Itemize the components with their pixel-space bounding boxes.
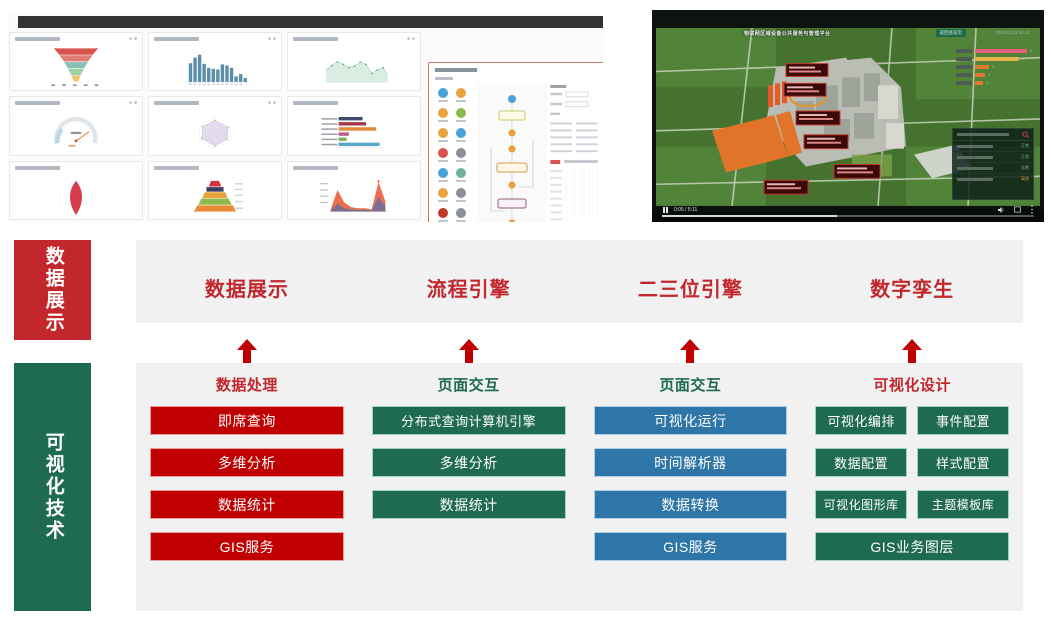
column-title: 页面交互	[594, 374, 788, 395]
flow-canvas[interactable]	[477, 83, 547, 222]
stacked-area-chart-card[interactable]	[287, 161, 421, 220]
stacked-area-chart	[288, 174, 420, 217]
twin-datetime: 2020/11/18 10:41	[995, 30, 1030, 35]
card-menu-icon[interactable]	[129, 101, 137, 104]
up-arrow-icon	[679, 339, 701, 363]
twin-search-row[interactable]	[953, 129, 1033, 141]
capability-box[interactable]: 样式配置	[917, 448, 1009, 477]
twin-overview-button[interactable]: 返回总览页	[936, 29, 967, 37]
pyramid-chart	[149, 174, 281, 217]
capability-box[interactable]: 可视化图形库	[815, 490, 907, 519]
horizontal-bar-chart	[288, 109, 420, 152]
legend-label	[956, 65, 972, 69]
search-input[interactable]	[957, 133, 1009, 136]
capability-box[interactable]: 数据转换	[594, 490, 788, 519]
card-title	[15, 166, 60, 170]
up-arrow-icon	[236, 339, 258, 363]
arrow-cell	[580, 337, 802, 363]
card-title	[15, 101, 60, 105]
card-menu-icon[interactable]	[407, 37, 415, 40]
technology-column-visual-design: 可视化设计 可视化编排 事件配置 数据配置 样式配置 可视化图形库 主题模板库	[801, 374, 1023, 611]
legend-value: 3	[1022, 56, 1024, 61]
legend-label	[956, 73, 972, 77]
funnel-chart	[10, 45, 142, 88]
device-name	[957, 167, 993, 170]
legend-row: 2	[956, 64, 1032, 69]
presentation-layer-panel: 数据展示 流程引擎 二三位引擎 数字孪生	[136, 240, 1023, 323]
technology-layer-band: 可视化技术 数据处理 即席查询 多维分析 数据统计 GIS服务 页面交互	[0, 363, 1051, 613]
polar-shape-chart	[10, 174, 142, 217]
video-progress-bar[interactable]	[662, 215, 1034, 217]
card-title	[293, 101, 338, 105]
column-items: 分布式查询计算机引擎 多维分析 数据统计	[372, 406, 566, 519]
capability-box[interactable]: GIS服务	[594, 532, 788, 561]
capability-box[interactable]: 可视化运行	[594, 406, 788, 435]
device-name	[957, 145, 993, 148]
bar-chart-card[interactable]	[148, 32, 282, 91]
twin-device-row[interactable]: 离线	[953, 174, 1033, 184]
technology-layer-side-label: 可视化技术	[14, 363, 91, 611]
device-name	[957, 178, 993, 181]
volume-icon[interactable]	[997, 206, 1005, 214]
flow-engine-designer[interactable]	[428, 62, 603, 222]
capability-box[interactable]: 分布式查询计算机引擎	[372, 406, 566, 435]
capability-box[interactable]: 多维分析	[372, 448, 566, 477]
column-items: 即席查询 多维分析 数据统计 GIS服务	[150, 406, 344, 561]
technology-column-page-interaction-1: 页面交互 分布式查询计算机引擎 多维分析 数据统计	[358, 374, 580, 611]
presentation-layer-band: 数据展示 数据展示 流程引擎 二三位引擎 数字孪生	[0, 240, 1051, 340]
dashboard-chart-grid	[9, 32, 421, 220]
video-player-controls[interactable]: 0:05 / 5:11	[652, 204, 1044, 222]
legend-row: 1	[956, 72, 1032, 77]
legend-row: 3	[956, 56, 1032, 61]
video-right-controls[interactable]	[997, 205, 1034, 214]
capability-box[interactable]: 多维分析	[150, 448, 344, 477]
capability-pair: 可视化编排 事件配置	[815, 406, 1009, 435]
pyramid-chart-card[interactable]	[148, 161, 282, 220]
capability-box[interactable]: 主题模板库	[917, 490, 1009, 519]
legend-bar	[975, 81, 983, 85]
column-items: 可视化编排 事件配置 数据配置 样式配置 可视化图形库 主题模板库 GIS业务图…	[815, 406, 1009, 561]
bi-dashboard-screenshot[interactable]	[8, 14, 603, 222]
legend-value: 2	[992, 64, 994, 69]
capability-box[interactable]: GIS服务	[150, 532, 344, 561]
twin-device-row[interactable]: 告警	[953, 163, 1033, 174]
side-label-text: 数据展示	[41, 246, 63, 334]
dashboard-body	[8, 30, 603, 222]
presentation-column[interactable]: 数据展示	[136, 240, 358, 323]
device-name	[957, 156, 993, 159]
funnel-chart-card[interactable]	[9, 32, 143, 91]
flow-node-palette[interactable]	[434, 85, 472, 222]
twin-device-row[interactable]: 正常	[953, 152, 1033, 163]
presentation-column[interactable]: 数字孪生	[801, 240, 1023, 323]
column-title: 数据处理	[150, 374, 344, 395]
area-line-chart-card[interactable]	[287, 32, 421, 91]
flow-header-sub	[435, 77, 453, 80]
up-arrow-icon	[901, 339, 923, 363]
capability-box[interactable]: 数据统计	[372, 490, 566, 519]
twin-platform-title: 物联网区域设备公共服务与管理平台	[744, 30, 830, 37]
presentation-column[interactable]: 流程引擎	[358, 240, 580, 323]
arrow-cell	[801, 337, 1023, 363]
horizontal-bar-chart-card[interactable]	[287, 96, 421, 155]
twin-legend: 8 3 2 1	[956, 48, 1032, 88]
technology-column-page-interaction-2: 页面交互 可视化运行 时间解析器 数据转换 GIS服务	[580, 374, 802, 611]
search-icon[interactable]	[1022, 131, 1029, 138]
fullscreen-icon[interactable]	[1014, 206, 1021, 213]
card-menu-icon[interactable]	[129, 37, 137, 40]
radar-chart-card[interactable]	[148, 96, 282, 155]
legend-value: 1	[988, 72, 990, 77]
capability-pair: 数据配置 样式配置	[815, 448, 1009, 477]
flow-header-title	[435, 68, 477, 72]
video-time-display: 0:05 / 5:11	[674, 207, 697, 213]
presentation-column-title: 流程引擎	[358, 273, 580, 302]
device-status: 正常	[1021, 143, 1029, 149]
browser-titlebar	[18, 16, 603, 28]
card-menu-icon[interactable]	[268, 37, 276, 40]
card-title	[293, 37, 338, 41]
capability-pair: 可视化图形库 主题模板库	[815, 490, 1009, 519]
legend-label	[956, 57, 972, 61]
device-status: 正常	[1021, 154, 1029, 160]
card-title	[154, 101, 199, 105]
arrow-cell	[136, 337, 358, 363]
technology-layer-panel: 数据处理 即席查询 多维分析 数据统计 GIS服务 页面交互 分布式查询计算机引…	[136, 363, 1023, 611]
presentation-column-title: 数字孪生	[801, 273, 1023, 302]
top-imagery-row: 物联网区域设备公共服务与管理平台 返回总览页 2020/11/18 10:41 …	[0, 0, 1051, 232]
presentation-column[interactable]: 二三位引擎	[580, 240, 802, 323]
column-title: 页面交互	[372, 374, 566, 395]
polar-shape-chart-card[interactable]	[9, 161, 143, 220]
capability-box[interactable]: 数据配置	[815, 448, 907, 477]
capability-box[interactable]: 数据统计	[150, 490, 344, 519]
legend-label	[956, 49, 972, 53]
card-title	[154, 37, 199, 41]
legend-bar	[975, 73, 985, 77]
technology-column-data-processing: 数据处理 即席查询 多维分析 数据统计 GIS服务	[136, 374, 358, 611]
more-options-icon[interactable]	[1030, 205, 1034, 214]
card-title	[15, 37, 60, 41]
capability-box-full[interactable]: GIS业务图层	[815, 532, 1009, 561]
presentation-layer-side-label: 数据展示	[14, 240, 91, 340]
legend-bar	[975, 57, 1019, 61]
legend-row: 8	[956, 48, 1032, 53]
gauge-chart-card[interactable]	[9, 96, 143, 155]
capability-box[interactable]: 事件配置	[917, 406, 1009, 435]
legend-bar	[975, 49, 1027, 53]
capability-box[interactable]: 可视化编排	[815, 406, 907, 435]
column-title: 可视化设计	[815, 374, 1009, 395]
slide-canvas: 物联网区域设备公共服务与管理平台 返回总览页 2020/11/18 10:41 …	[0, 0, 1051, 636]
legend-value: 1	[986, 80, 988, 85]
up-arrow-icon	[458, 339, 480, 363]
area-line-chart	[288, 45, 420, 88]
legend-label	[956, 81, 972, 85]
radar-chart	[149, 109, 281, 152]
card-title	[154, 166, 199, 170]
legend-bar	[975, 65, 989, 69]
twin-device-row[interactable]: 正常	[953, 141, 1033, 152]
column-items: 可视化运行 时间解析器 数据转换 GIS服务	[594, 406, 788, 561]
legend-value: 8	[1030, 48, 1032, 53]
capability-box[interactable]: 即席查询	[150, 406, 344, 435]
card-title	[293, 166, 338, 170]
legend-row: 1	[956, 80, 1032, 85]
digital-twin-campus-video[interactable]: 物联网区域设备公共服务与管理平台 返回总览页 2020/11/18 10:41 …	[652, 10, 1044, 222]
device-status: 离线	[1021, 176, 1029, 182]
gauge-chart	[10, 109, 142, 152]
card-menu-icon[interactable]	[268, 101, 276, 104]
presentation-column-title: 数据展示	[136, 273, 358, 302]
flow-arrows-row	[136, 337, 1023, 363]
capability-box[interactable]: 时间解析器	[594, 448, 788, 477]
side-label-text: 可视化技术	[41, 432, 63, 542]
flow-properties-panel[interactable]	[548, 83, 602, 222]
twin-device-list-panel[interactable]: 正常 正常 告警 离线	[952, 128, 1034, 200]
device-status: 告警	[1021, 165, 1029, 171]
bar-chart	[149, 45, 281, 88]
arrow-cell	[358, 337, 580, 363]
presentation-column-title: 二三位引擎	[580, 273, 802, 302]
pause-icon[interactable]	[663, 207, 668, 213]
